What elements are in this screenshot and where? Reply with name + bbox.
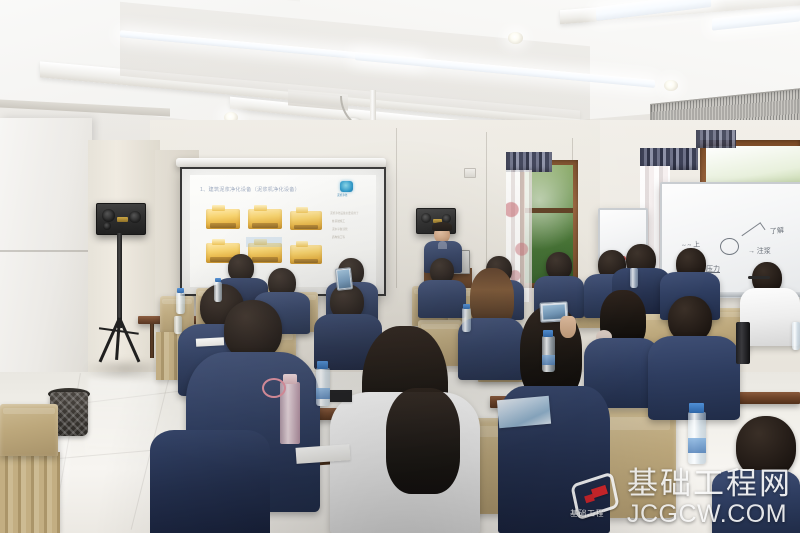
attendee-hair-foreground-overlay	[386, 388, 460, 494]
downlight-3	[664, 80, 678, 91]
presenter-hair	[432, 222, 452, 231]
speaker-woofer-right	[421, 213, 431, 223]
left-wall-reveal	[0, 250, 92, 252]
floor-shadow-speaker	[84, 358, 164, 380]
conference-room-photo: ~ ~ 上 δ → 了解 → 注浆 压力 稳定 1、建筑泥浆净化设备（泥浆机净化…	[0, 0, 800, 533]
thermos-flask[interactable]	[736, 322, 750, 364]
water-bottle[interactable]	[542, 336, 555, 372]
water-bottle-cap	[689, 403, 704, 413]
slide-logo-icon	[340, 181, 353, 192]
water-bottle-cap	[463, 304, 470, 309]
slide-title: 1、建筑泥浆净化设备（泥浆机净化设备）	[200, 186, 300, 193]
watermark-text: 基础工程网 JCGCW.COM	[627, 469, 792, 527]
eyeglasses-icon	[748, 276, 770, 279]
wall-speaker-plate	[464, 168, 476, 178]
bottle-strap-loop	[262, 378, 286, 398]
speaker-woofer-left	[102, 209, 115, 222]
watermark-domain: JCGCW.COM	[627, 502, 792, 527]
water-bottle[interactable]	[174, 316, 182, 334]
water-bottle[interactable]	[792, 322, 800, 350]
water-bottle-label	[316, 388, 330, 399]
downlight-1	[508, 32, 523, 44]
water-bottle-cap	[317, 361, 328, 369]
whiteboard-note-4: → 注浆	[748, 246, 771, 256]
watermark-chinese: 基础工程网	[627, 469, 792, 500]
water-bottle-cap	[543, 330, 553, 337]
window-mullion-left	[525, 208, 573, 213]
water-bottle-label	[542, 355, 555, 365]
chair-foreground-far-left[interactable]	[0, 404, 58, 456]
slide-machine-1	[206, 209, 240, 229]
pa-speaker-left	[96, 203, 146, 235]
whiteboard-circle-annotation	[720, 238, 739, 255]
slide-machine-6	[290, 245, 322, 264]
attendee-shoulder-left-foreground	[150, 430, 270, 533]
slide-body-line-4: 盾构施工等	[332, 235, 345, 239]
curtain-valance-left	[506, 152, 552, 172]
wall-seam-1	[396, 128, 397, 288]
water-bottle-label	[688, 438, 706, 453]
slide-body-line-3: 泥水平衡顶管	[332, 227, 348, 231]
chair-skirt-foreground	[0, 452, 60, 533]
curtain-valance-far-right	[696, 130, 736, 148]
water-bottle[interactable]	[630, 268, 638, 288]
slide-machine-2	[248, 209, 282, 229]
slide-machine-3	[290, 211, 322, 230]
speaker-stand-pole-left	[117, 233, 122, 328]
water-bottle-cap	[177, 288, 184, 293]
phone-on-desk[interactable]	[330, 390, 352, 402]
smartphone-screen-1	[337, 269, 351, 288]
speaker-badge-left	[117, 217, 128, 222]
watermark: 基础工程 基础工程网 JCGCW.COM	[568, 469, 792, 527]
wall-seam-2	[486, 132, 487, 282]
water-bottle[interactable]	[176, 292, 185, 314]
attendee-torso	[418, 280, 466, 318]
water-bottle[interactable]	[214, 282, 222, 302]
whiteboard-note-3: 了解	[770, 225, 785, 236]
slide-body-line-2: 桩基础施工	[332, 219, 345, 223]
water-bottle[interactable]	[688, 412, 706, 464]
watermark-logo-icon: 基础工程	[568, 475, 620, 521]
slide-body-line-1: 泥浆净化设备主要应用于	[330, 211, 359, 215]
slide-logo-caption: 泥浆净化	[337, 193, 347, 197]
floor-reflection-1	[84, 378, 159, 472]
speaker-tweeter-left	[103, 222, 111, 230]
smartphone-1[interactable]	[335, 267, 353, 291]
water-bottle[interactable]	[462, 308, 471, 332]
brochure[interactable]	[497, 396, 551, 428]
projection-screen-case	[176, 158, 386, 167]
pink-bottle-cap	[283, 374, 297, 384]
attendee-head-foreground	[224, 300, 282, 360]
presenter-collar	[438, 241, 447, 249]
water-bottle[interactable]	[316, 368, 330, 406]
water-bottle-cap	[215, 278, 221, 282]
slide-highlight-band	[246, 237, 282, 247]
hand-holding-phone	[560, 316, 576, 338]
document-sheet[interactable]	[196, 337, 224, 346]
desk-leg-1	[150, 324, 154, 358]
speaker-woofer-left-2	[129, 211, 141, 223]
whiteboard-arrow	[741, 222, 765, 243]
watermark-logo-subtext: 基础工程	[570, 508, 604, 519]
